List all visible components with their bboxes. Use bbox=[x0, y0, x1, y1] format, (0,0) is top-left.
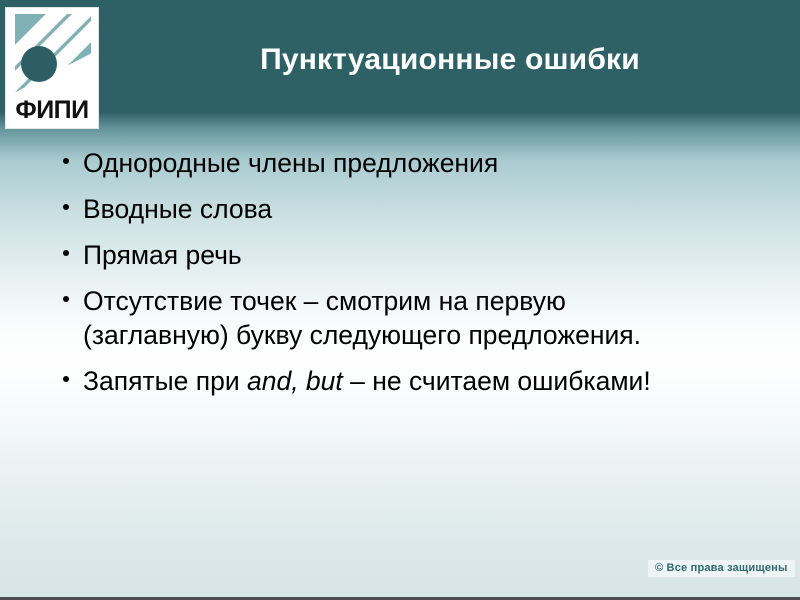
list-item-label-prefix: Запятые при bbox=[83, 366, 247, 396]
copyright-badge: © Все права защищены bbox=[648, 560, 795, 577]
list-item: Однородные члены предложения bbox=[58, 146, 683, 180]
bullet-dot-icon bbox=[63, 158, 69, 164]
list-item: Запятые при and, but – не считаем ошибка… bbox=[58, 364, 683, 398]
logo-label: ФИПИ bbox=[6, 96, 98, 125]
bullet-dot-icon bbox=[63, 250, 69, 256]
list-item: Прямая речь bbox=[58, 238, 683, 272]
list-item-label-suffix: – не считаем ошибками! bbox=[343, 366, 651, 396]
bullet-dot-icon bbox=[63, 376, 69, 382]
bullet-dot-icon bbox=[63, 296, 69, 302]
bullet-list: Однородные члены предложения Вводные сло… bbox=[58, 146, 758, 410]
list-item: Отсутствие точек – смотрим на первую (за… bbox=[58, 284, 683, 352]
fipi-logo: ФИПИ bbox=[5, 7, 99, 129]
list-item-label-emphasis: and, but bbox=[247, 366, 343, 396]
list-item-label: Отсутствие точек – смотрим на первую (за… bbox=[83, 286, 641, 350]
list-item-label: Вводные слова bbox=[83, 194, 272, 224]
page-title: Пунктуационные ошибки bbox=[110, 42, 790, 78]
fipi-logo-icon bbox=[15, 14, 91, 92]
list-item-label: Прямая речь bbox=[83, 240, 242, 270]
list-item-label: Однородные члены предложения bbox=[83, 148, 498, 178]
logo-circle-icon bbox=[21, 46, 57, 82]
presentation-slide: ФИПИ Пунктуационные ошибки Однородные чл… bbox=[0, 0, 800, 600]
bullet-dot-icon bbox=[63, 204, 69, 210]
list-item: Вводные слова bbox=[58, 192, 683, 226]
